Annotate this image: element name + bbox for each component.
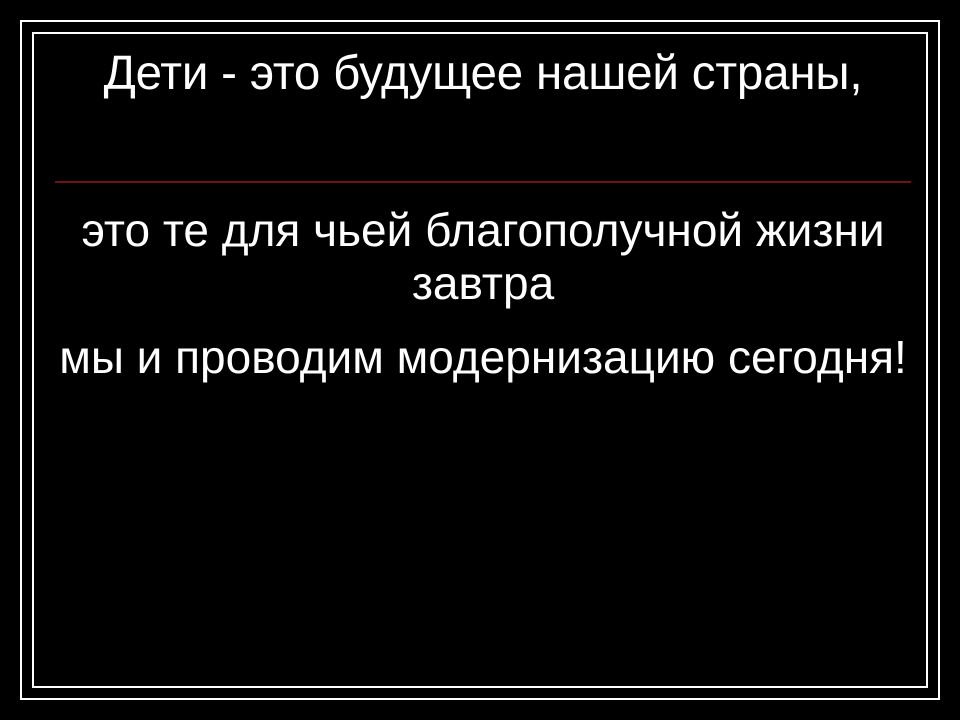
slide-content-area: Дети - это будущее нашей страны, это те …: [34, 34, 926, 686]
body-paragraph-2: мы и проводим модернизацию сегодня!: [46, 331, 920, 384]
slide-title-text: Дети - это будущее нашей страны,: [59, 46, 906, 102]
title-underline-rule: [55, 181, 911, 183]
slide-title-placeholder[interactable]: Дети - это будущее нашей страны,: [55, 46, 911, 102]
slide-body-placeholder[interactable]: это те для чьей благополучной жизни завт…: [46, 204, 920, 384]
body-paragraph-1: это те для чьей благополучной жизни завт…: [46, 204, 920, 311]
presentation-slide: Дети - это будущее нашей страны, это те …: [0, 0, 960, 720]
